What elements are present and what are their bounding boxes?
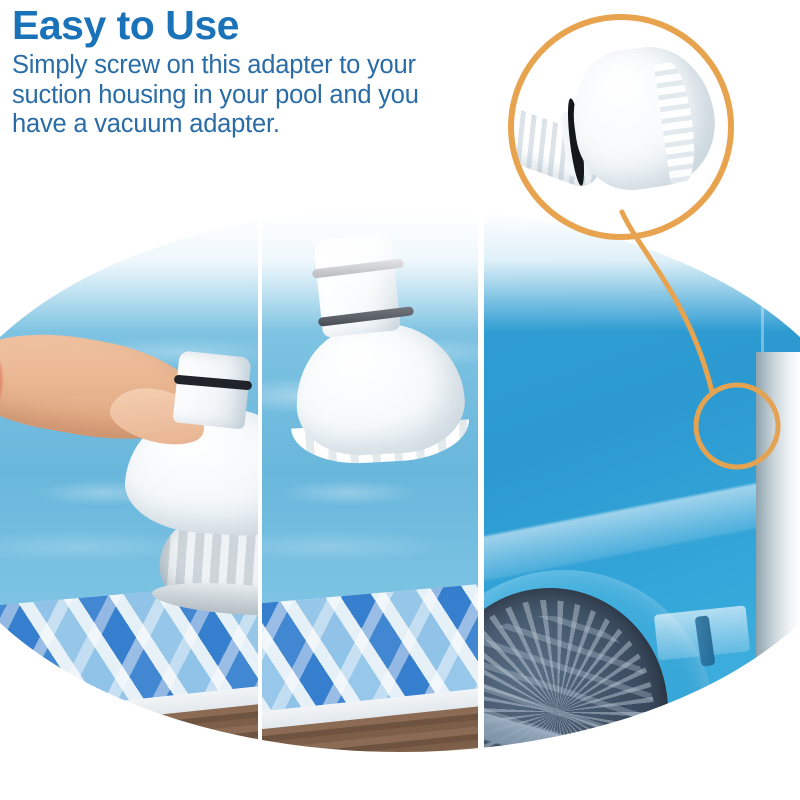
adapter-neck (172, 350, 251, 429)
panel-hand-installing-adapter (0, 212, 258, 752)
page-title: Easy to Use (12, 4, 532, 47)
description-text: Simply screw on this adapter to your suc… (12, 51, 532, 140)
copy-block: Easy to Use Simply screw on this adapter… (12, 4, 532, 140)
product-infographic: Easy to Use Simply screw on this adapter… (0, 0, 800, 800)
panel-pool-wall-suction-housing (484, 212, 800, 752)
pool-frame-post (756, 352, 800, 752)
callout-closeup-photo (512, 18, 730, 236)
panel-adapter-installed (262, 212, 478, 752)
photo-strip (0, 212, 800, 752)
